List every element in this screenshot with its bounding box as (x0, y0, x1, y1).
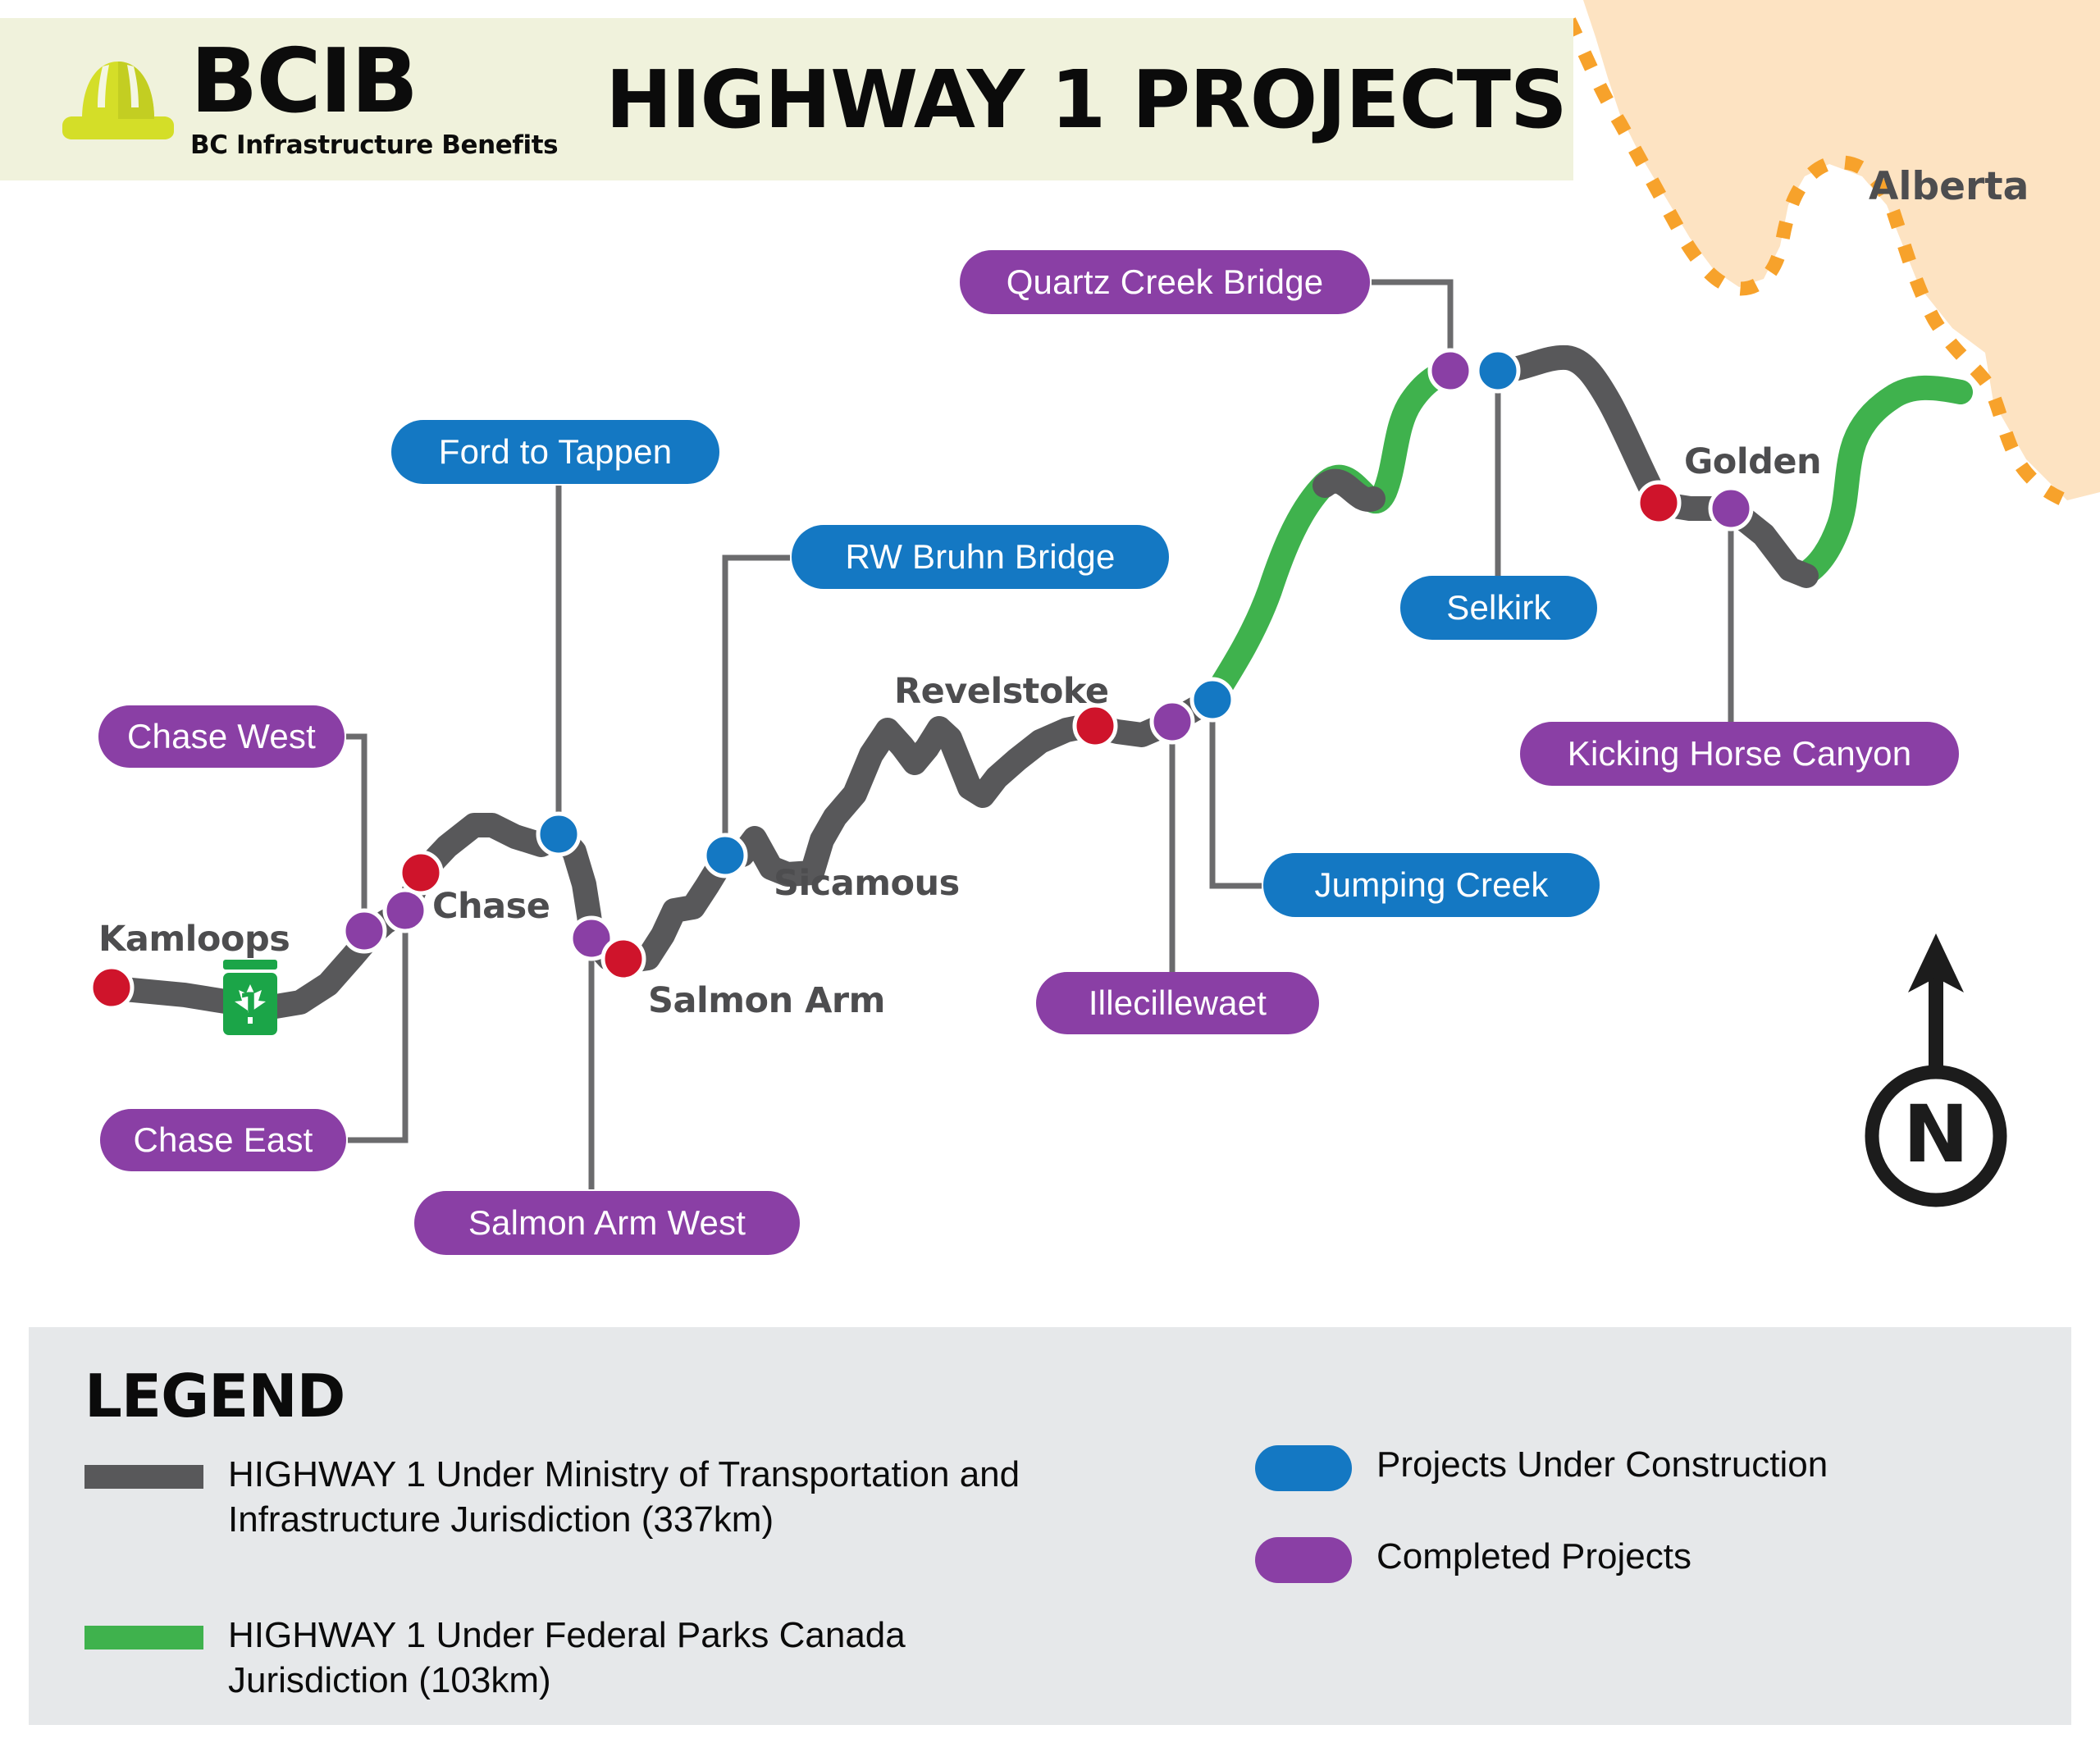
legend-swatch-green-bar (84, 1626, 203, 1649)
legend-panel: LEGEND HIGHWAY 1 Under Ministry of Trans… (29, 1327, 2071, 1725)
marker-selkirk (1477, 350, 1518, 391)
callout-label: Quartz Creek Bridge (1007, 262, 1324, 302)
route-parks-canada-yoho (1805, 388, 1961, 574)
legend-swatch-purple-pill (1255, 1537, 1352, 1583)
leader-chase-west (346, 737, 364, 927)
marker-kicking-horse (1710, 488, 1751, 529)
marker-illecillewaet (1152, 701, 1193, 742)
callout-illecillewaet[interactable]: Illecillewaet (1036, 972, 1319, 1034)
marker-jumping-creek (1192, 679, 1233, 720)
alberta-province-fill (1583, 0, 2100, 500)
callout-label: Salmon Arm West (468, 1203, 746, 1243)
city-label-revelstoke: Revelstoke (894, 671, 1109, 712)
city-label-kamloops: Kamloops (98, 919, 290, 960)
legend-item-label: HIGHWAY 1 Under Ministry of Transportati… (228, 1452, 1028, 1543)
legend-item-under-construction: Projects Under Construction (1255, 1442, 2034, 1491)
marker-chase-west (344, 910, 385, 951)
bcib-logo: BCIB BC Infrastructure Benefits (57, 39, 558, 159)
callout-label: RW Bruhn Bridge (845, 537, 1115, 577)
callout-chase-east[interactable]: Chase East (100, 1109, 346, 1171)
marker-quartz-creek-bridge (1430, 350, 1471, 391)
callout-label: Ford to Tappen (439, 432, 673, 472)
callout-label: Selkirk (1446, 588, 1550, 627)
callout-label: Chase East (133, 1120, 313, 1160)
callout-quartz-creek-bridge[interactable]: Quartz Creek Bridge (960, 250, 1370, 314)
callout-label: Illecillewaet (1089, 983, 1267, 1023)
svg-text:N: N (1903, 1088, 1969, 1180)
header-banner: BCIB BC Infrastructure Benefits HIGHWAY … (0, 18, 1573, 180)
legend-item-mot-jurisdiction: HIGHWAY 1 Under Ministry of Transportati… (84, 1452, 1028, 1543)
callout-ford-to-tappen[interactable]: Ford to Tappen (391, 420, 719, 484)
city-label-chase: Chase (432, 886, 550, 927)
leader-rw-bruhn-bridge (725, 558, 790, 853)
marker-kamloops-terminus (91, 967, 132, 1008)
svg-text:1: 1 (238, 985, 262, 1025)
leader-jumping-creek (1212, 704, 1262, 886)
legend-item-label: Projects Under Construction (1376, 1442, 1828, 1487)
brand-acronym: BCIB (190, 42, 558, 121)
legend-title: LEGEND (84, 1362, 345, 1430)
hard-hat-icon (57, 47, 179, 145)
callout-kicking-horse-canyon[interactable]: Kicking Horse Canyon (1520, 722, 1959, 786)
highway-1-shield-icon: 1 (223, 960, 277, 1035)
callout-label: Chase West (127, 717, 316, 756)
marker-salmon-arm-terminus (603, 938, 644, 979)
legend-item-completed: Completed Projects (1255, 1534, 2034, 1583)
city-label-golden: Golden (1684, 441, 1821, 482)
city-label-sicamous: Sicamous (774, 863, 960, 904)
marker-rw-bruhn-bridge (705, 835, 746, 876)
callout-label: Kicking Horse Canyon (1568, 734, 1912, 773)
legend-item-label: Completed Projects (1376, 1534, 1691, 1579)
compass-north-icon: N (1872, 933, 2000, 1202)
route-parks-canada-rogers-pass (1214, 371, 1454, 697)
legend-swatch-blue-pill (1255, 1445, 1352, 1491)
callout-jumping-creek[interactable]: Jumping Creek (1263, 853, 1600, 917)
logo-text: BCIB BC Infrastructure Benefits (190, 42, 558, 159)
callout-label: Jumping Creek (1314, 865, 1548, 905)
callout-chase-west[interactable]: Chase West (98, 705, 345, 768)
marker-ford-to-tappen (538, 814, 579, 855)
map-canvas: 1 N Kamloops Chase (0, 0, 2100, 1321)
province-label-alberta: Alberta (1869, 164, 2029, 209)
callout-salmon-arm-west[interactable]: Salmon Arm West (414, 1191, 800, 1255)
legend-item-label: HIGHWAY 1 Under Federal Parks Canada Jur… (228, 1613, 1028, 1704)
brand-full-name: BC Infrastructure Benefits (190, 130, 558, 160)
callout-selkirk[interactable]: Selkirk (1400, 576, 1597, 640)
marker-chase-east (385, 890, 426, 931)
legend-item-parks-canada-jurisdiction: HIGHWAY 1 Under Federal Parks Canada Jur… (84, 1613, 1028, 1704)
city-label-salmon-arm: Salmon Arm (648, 980, 885, 1021)
page-title: HIGHWAY 1 PROJECTS (605, 53, 1567, 146)
marker-golden-terminus (1638, 482, 1679, 523)
legend-swatch-gray-bar (84, 1465, 203, 1489)
callout-rw-bruhn-bridge[interactable]: RW Bruhn Bridge (792, 525, 1169, 589)
